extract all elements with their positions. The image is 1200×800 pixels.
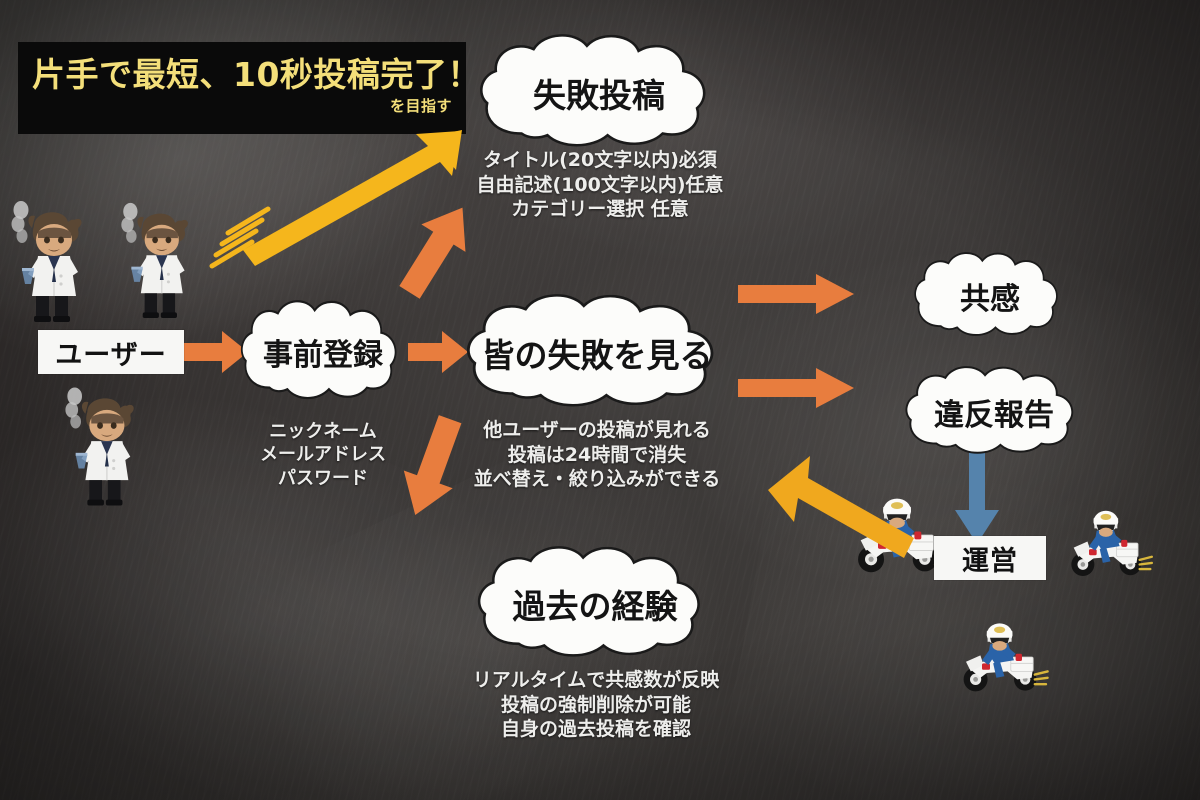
node-user-label: ユーザー	[55, 333, 166, 372]
caption-failure-post: タイトル(20文字以内)必須 自由記述(100文字以内)任意 カテゴリー選択 任…	[460, 148, 740, 222]
caption-line: タイトル(20文字以内)必須	[460, 148, 740, 173]
node-empathy-label: 共感	[960, 274, 1020, 318]
node-operator[interactable]: 運営	[934, 536, 1046, 580]
node-operator-label: 運営	[962, 539, 1018, 578]
node-pre-registration-label: 事前登録	[263, 330, 383, 374]
headline-banner: 片手で最短、10秒投稿完了！ を目指す	[18, 42, 466, 134]
node-see-others-failures-label: 皆の失敗を見る	[482, 329, 713, 377]
banner-main-text: 片手で最短、10秒投稿完了！	[32, 58, 452, 93]
arrow-right-icon	[738, 366, 856, 410]
node-past-experience-label: 過去の経験	[513, 580, 678, 628]
caption-line: メールアドレス	[228, 443, 418, 466]
arrow-down-icon	[952, 452, 1002, 546]
arrow-diagonal-up-left-icon	[764, 452, 924, 568]
scientist-figure-icon	[118, 198, 196, 322]
node-failure-post[interactable]: 失敗投稿	[470, 34, 728, 152]
caption-line: 投稿は24時間で消失	[452, 443, 742, 468]
node-past-experience[interactable]: 過去の経験	[468, 546, 722, 662]
caption-line: 投稿の強制削除が可能	[450, 693, 742, 718]
node-violation-report-label: 違反報告	[934, 390, 1054, 434]
caption-line: ニックネーム	[228, 420, 418, 443]
caption-pre-registration: ニックネーム メールアドレス パスワード	[228, 420, 418, 490]
caption-past-experience: リアルタイムで共感数が反映 投稿の強制削除が可能 自身の過去投稿を確認	[450, 668, 742, 742]
banner-sub-text: を目指す	[32, 95, 452, 116]
node-user[interactable]: ユーザー	[38, 330, 184, 374]
caption-line: 自身の過去投稿を確認	[450, 717, 742, 742]
scientist-figure-icon	[62, 382, 142, 510]
node-see-others-failures[interactable]: 皆の失敗を見る	[456, 294, 738, 412]
caption-line: 他ユーザーの投稿が見れる	[452, 418, 742, 443]
police-motorcycle-icon	[958, 610, 1054, 704]
police-motorcycle-icon	[1066, 498, 1158, 588]
caption-line: カテゴリー選択 任意	[460, 197, 740, 222]
caption-see-others-failures: 他ユーザーの投稿が見れる 投稿は24時間で消失 並べ替え・絞り込みができる	[452, 418, 742, 492]
arrow-right-icon	[738, 272, 856, 316]
node-violation-report[interactable]: 違反報告	[898, 366, 1090, 458]
node-failure-post-label: 失敗投稿	[533, 69, 665, 117]
node-pre-registration[interactable]: 事前登録	[234, 300, 412, 404]
caption-line: パスワード	[228, 467, 418, 490]
diagram-canvas: 片手で最短、10秒投稿完了！ を目指す	[0, 0, 1200, 800]
caption-line: 自由記述(100文字以内)任意	[460, 173, 740, 198]
caption-line: 並べ替え・絞り込みができる	[452, 467, 742, 492]
node-empathy[interactable]: 共感	[908, 252, 1072, 340]
caption-line: リアルタイムで共感数が反映	[450, 668, 742, 693]
scientist-figure-icon	[8, 196, 90, 326]
